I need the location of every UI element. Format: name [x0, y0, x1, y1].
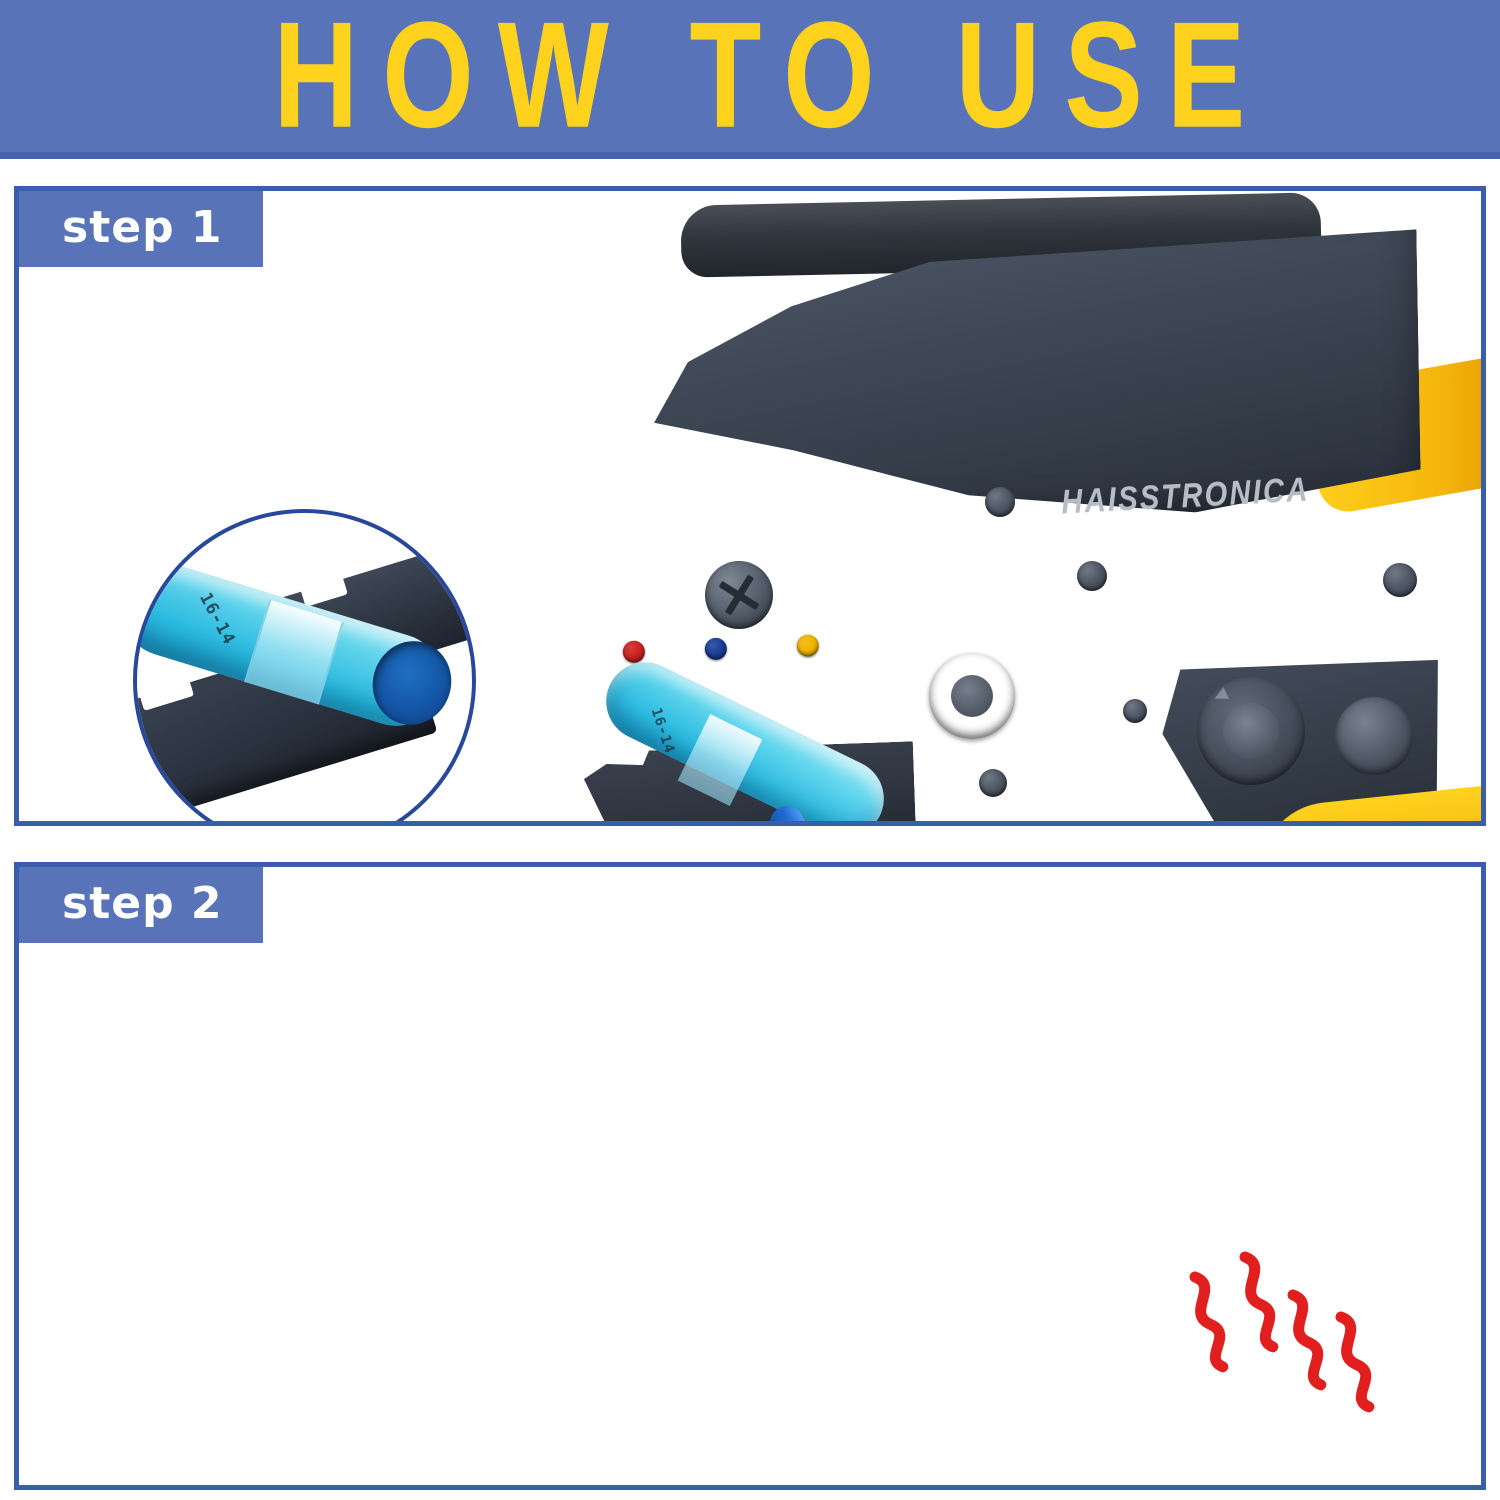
red-die-dot-icon [623, 640, 646, 663]
step-2-illustration: 16-14 AWG [19, 867, 1481, 1485]
step-1-panel: step 1 16-14 HAISSTRONICA [14, 186, 1486, 826]
heat-wave-4 [1337, 1315, 1375, 1409]
page-title: HOW TO USE [249, 0, 1269, 151]
step-2-panel: step 2 16-14 AWG Apply heat while rotain… [14, 862, 1486, 1490]
heat-wave-svg [19, 867, 1481, 1485]
blue-die-dot-icon [704, 637, 727, 660]
tool-pivot-screw [705, 561, 773, 629]
tool-rivet-2 [1077, 561, 1107, 591]
heat-wave-2 [1241, 1255, 1279, 1349]
step-1-illustration: 16-14 HAISSTRONICA [19, 191, 1481, 821]
header-underline [0, 152, 1500, 159]
tool-rivet-4 [979, 769, 1007, 797]
tool-secondary-bolt [1335, 697, 1413, 775]
step-2-badge: step 2 [18, 866, 263, 943]
yellow-die-dot-icon [796, 634, 819, 657]
heat-wave-3 [1289, 1293, 1327, 1387]
header-banner: HOW TO USE [0, 0, 1500, 152]
tool-rivet-5 [1123, 699, 1147, 723]
tool-rivet-3 [1383, 563, 1417, 597]
die-notch-3 [784, 674, 819, 697]
heat-wave-1 [1191, 1275, 1229, 1369]
tool-rivet-1 [985, 487, 1015, 517]
step-1-badge: step 1 [18, 190, 263, 267]
tool-center-knob [929, 653, 1015, 739]
